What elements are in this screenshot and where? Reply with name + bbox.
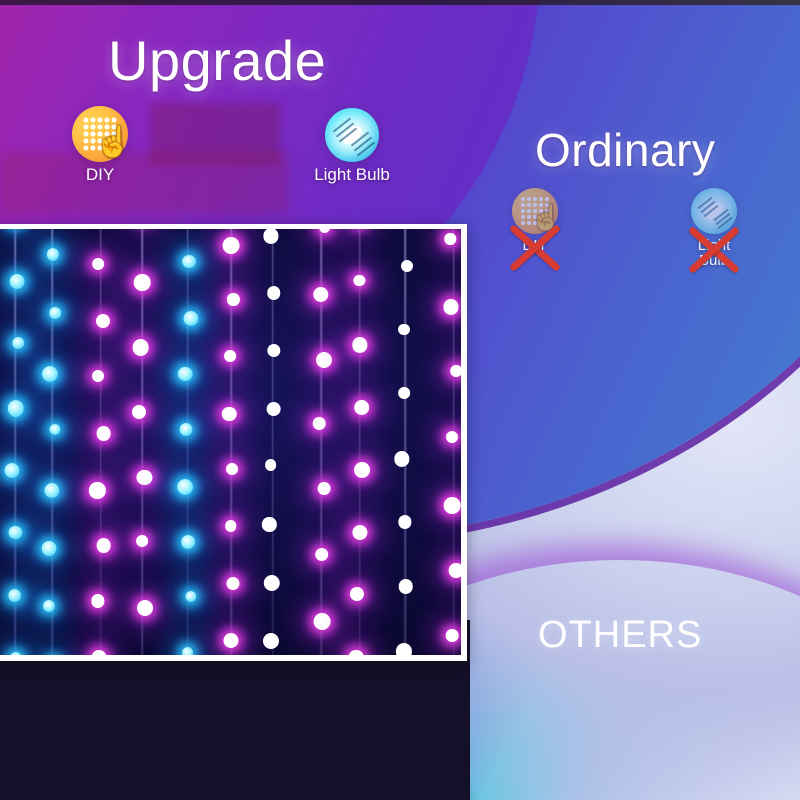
wire-coil-strand — [0, 149, 147, 297]
led-dot — [265, 459, 277, 471]
led-dot — [264, 229, 279, 244]
diy-dot-grid-icon: ☝ — [512, 188, 558, 234]
led-dot — [399, 579, 414, 594]
led-dot — [227, 293, 239, 305]
led-dot — [137, 470, 152, 485]
led-dot — [266, 402, 281, 417]
feature-label-light-bulb: Light Bulb — [298, 166, 406, 183]
led-dot — [267, 344, 280, 357]
others-caption: OTHERS — [538, 614, 702, 657]
feature-diy-ordinary: ☝ DIY — [494, 188, 576, 253]
led-dot — [314, 613, 331, 630]
led-strand — [404, 229, 407, 655]
led-strand — [186, 229, 189, 655]
led-dot — [401, 260, 413, 272]
led-dot — [313, 287, 328, 302]
led-dot — [450, 365, 461, 377]
led-dot — [226, 463, 238, 475]
led-dot — [318, 482, 331, 495]
led-dot — [315, 548, 329, 562]
led-dot — [449, 563, 461, 578]
feature-light-bulb-ordinary: Light Bulb — [676, 188, 752, 269]
led-strand — [230, 229, 233, 655]
led-dot — [352, 337, 367, 352]
led-strand — [271, 229, 274, 655]
led-strand — [358, 229, 361, 655]
led-dot — [185, 591, 196, 602]
ordinary-heading: Ordinary — [535, 123, 715, 177]
led-dot — [350, 587, 364, 601]
led-dot — [224, 350, 236, 362]
led-dot — [349, 650, 364, 655]
led-dot — [445, 233, 456, 244]
led-strand — [320, 229, 323, 655]
led-dot — [222, 407, 237, 422]
led-dot — [227, 577, 240, 590]
led-dot — [446, 431, 458, 443]
led-dot — [354, 400, 370, 416]
led-dot — [179, 423, 192, 436]
led-dot — [313, 417, 326, 430]
led-dot — [355, 462, 371, 478]
led-dot — [444, 497, 461, 514]
light-bulb-icon — [691, 188, 737, 234]
led-dot — [183, 311, 198, 326]
wire-coil-strand — [0, 295, 144, 440]
feature-light-bulb-upgrade: Light Bulb — [298, 108, 406, 183]
led-dot — [398, 387, 410, 399]
led-dot — [353, 525, 368, 540]
led-dot — [182, 647, 194, 655]
led-dot — [263, 633, 279, 649]
led-dot — [394, 451, 409, 466]
led-dot — [398, 515, 411, 528]
led-dot — [177, 479, 193, 495]
led-dot — [223, 237, 240, 254]
led-dot — [395, 643, 411, 655]
wire-coil-strand — [0, 0, 158, 158]
led-dot — [262, 517, 276, 531]
led-dot — [446, 629, 459, 642]
feature-label-diy: DIY — [494, 238, 576, 253]
led-dot — [223, 633, 238, 648]
product-comparison-poster: Upgrade ☝ DIY Light Bulb — [0, 0, 800, 800]
led-dot — [443, 299, 458, 314]
led-dot — [182, 255, 196, 269]
led-dot — [181, 535, 195, 549]
led-dot — [267, 286, 281, 300]
led-strand — [452, 229, 455, 655]
led-dot — [264, 575, 280, 591]
led-dot — [316, 352, 332, 368]
led-dot — [225, 520, 237, 532]
led-dot — [398, 324, 410, 336]
led-dot — [137, 600, 153, 616]
feature-label-light-bulb: Light Bulb — [692, 238, 736, 269]
light-bulb-icon — [325, 108, 379, 162]
led-dot — [178, 367, 193, 382]
pointing-hand-icon: ☝ — [531, 206, 562, 231]
led-dot — [354, 275, 365, 286]
